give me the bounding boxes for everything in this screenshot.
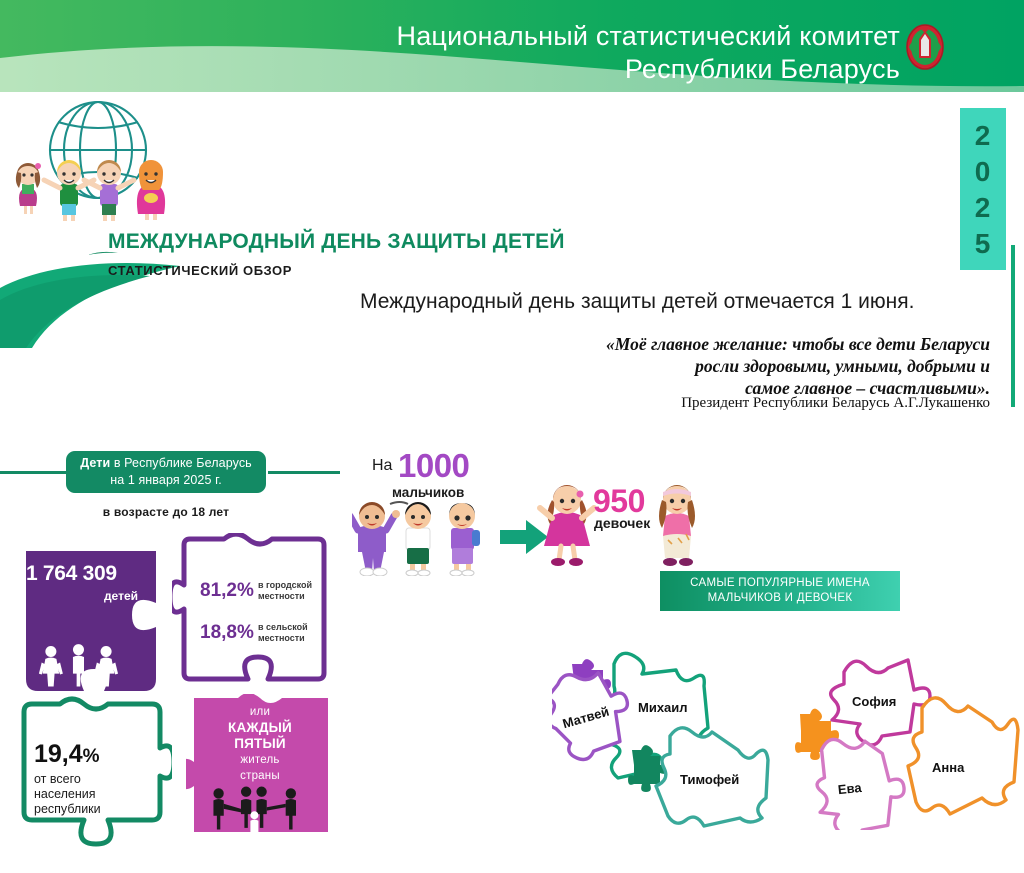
urban-label: в городской местности xyxy=(258,580,332,601)
intro-sentence: Международный день защиты детей отмечает… xyxy=(360,290,1010,314)
share-caption-line-1: от всего xyxy=(34,772,144,787)
fifth-line-5: страны xyxy=(200,768,320,784)
girl-name-1: София xyxy=(852,694,896,709)
urban-rural-puzzle-piece xyxy=(172,533,332,688)
boys-count: 1000 xyxy=(398,447,469,485)
year-digit-2: 2 xyxy=(960,190,1006,226)
rural-label: в сельской местности xyxy=(258,622,332,643)
page-subtitle: СТАТИСТИЧЕСКИЙ ОБЗОР xyxy=(108,263,292,278)
urban-label-line-1: в городской xyxy=(258,580,332,591)
girl-name-2: Анна xyxy=(932,760,965,775)
anna-piece: Анна xyxy=(908,698,1018,814)
year-digit-1: 0 xyxy=(960,154,1006,190)
quote-line-2: росли здоровыми, умными, добрыми и xyxy=(430,355,990,377)
girl-name-3: Ева xyxy=(837,780,863,797)
boy-name-1: Михаил xyxy=(638,700,688,715)
page-title: МЕЖДУНАРОДНЫЙ ДЕНЬ ЗАЩИТЫ ДЕТЕЙ xyxy=(108,230,565,254)
fifth-line-2: КАЖДЫЙ xyxy=(200,720,320,736)
names-banner-line-1: САМЫЕ ПОПУЛЯРНЫЕ ИМЕНА xyxy=(660,576,900,591)
right-edge-rule xyxy=(1011,245,1015,407)
every-fifth-text: или КАЖДЫЙ ПЯТЫЙ житель страны xyxy=(200,704,320,784)
share-caption-line-3: республики xyxy=(34,802,144,817)
quote-author: Президент Республики Беларусь А.Г.Лукаше… xyxy=(430,395,990,412)
banner-bold-word: Дети xyxy=(80,456,110,470)
children-section-banner: Дети в Республике Беларусь на 1 января 2… xyxy=(66,451,266,493)
girl-right-illustration xyxy=(648,480,706,566)
fifth-line-4: житель xyxy=(200,752,320,768)
rural-percent: 18,8% xyxy=(200,622,254,644)
popular-names-banner: САМЫЕ ПОПУЛЯРНЫЕ ИМЕНА МАЛЬЧИКОВ И ДЕВОЧ… xyxy=(660,571,900,611)
infographic-page: Национальный статистический комитет Респ… xyxy=(0,0,1024,873)
age-note: в возрасте до 18 лет xyxy=(66,505,266,519)
share-caption-line-2: населения xyxy=(34,787,144,802)
share-value: 19,4 xyxy=(34,740,83,768)
girls-label: девочек xyxy=(594,515,650,531)
girl-names-puzzle-group: София Анна Ева xyxy=(790,650,1020,830)
share-percent-sign: % xyxy=(83,746,100,767)
year-digit-0: 2 xyxy=(960,118,1006,154)
eva-piece: Ева xyxy=(813,733,909,830)
belarus-coat-of-arms-icon xyxy=(900,22,950,72)
fifth-line-3: ПЯТЫЙ xyxy=(200,736,320,752)
boy-names-puzzle-group: Михаил Матвей Тимофей xyxy=(552,650,782,830)
per-word-label: На xyxy=(372,457,392,475)
banner-rule-right xyxy=(268,471,340,474)
banner-line-1: Дети в Республике Беларусь xyxy=(66,455,266,472)
rural-label-line-2: местности xyxy=(258,633,332,644)
banner-line-2: на 1 января 2025 г. xyxy=(66,472,266,489)
header-title-line2: Республики Беларусь xyxy=(340,53,900,86)
timofey-piece: Тимофей xyxy=(656,728,768,826)
population-share-number: 19,4% xyxy=(34,740,154,769)
girl-left-illustration xyxy=(536,480,598,566)
quote-line-1: «Моё главное желание: чтобы все дети Бел… xyxy=(430,333,990,355)
urban-percent: 81,2% xyxy=(200,580,254,602)
population-share-caption: от всего населения республики xyxy=(34,772,144,817)
banner-rest-word: в Республике Беларусь xyxy=(110,456,252,470)
header-title-line1: Национальный статистический комитет xyxy=(340,20,900,53)
globe-with-children-logo xyxy=(8,88,188,223)
total-children-number: 1 764 309 xyxy=(26,562,156,586)
sofia-piece: София xyxy=(831,660,930,745)
names-banner-line-2: МАЛЬЧИКОВ И ДЕВОЧЕК xyxy=(660,591,900,606)
header-title: Национальный статистический комитет Респ… xyxy=(340,20,900,86)
fifth-line-1: или xyxy=(200,704,320,720)
total-children-caption: детей xyxy=(26,589,138,603)
urban-label-line-2: местности xyxy=(258,591,332,602)
year-digit-3: 5 xyxy=(960,226,1006,262)
boy-name-3: Тимофей xyxy=(680,772,739,787)
rural-label-line-1: в сельской xyxy=(258,622,332,633)
year-label: 2 0 2 5 xyxy=(960,118,1006,262)
president-quote: «Моё главное желание: чтобы все дети Бел… xyxy=(430,333,990,399)
three-boys-illustration xyxy=(352,498,497,576)
